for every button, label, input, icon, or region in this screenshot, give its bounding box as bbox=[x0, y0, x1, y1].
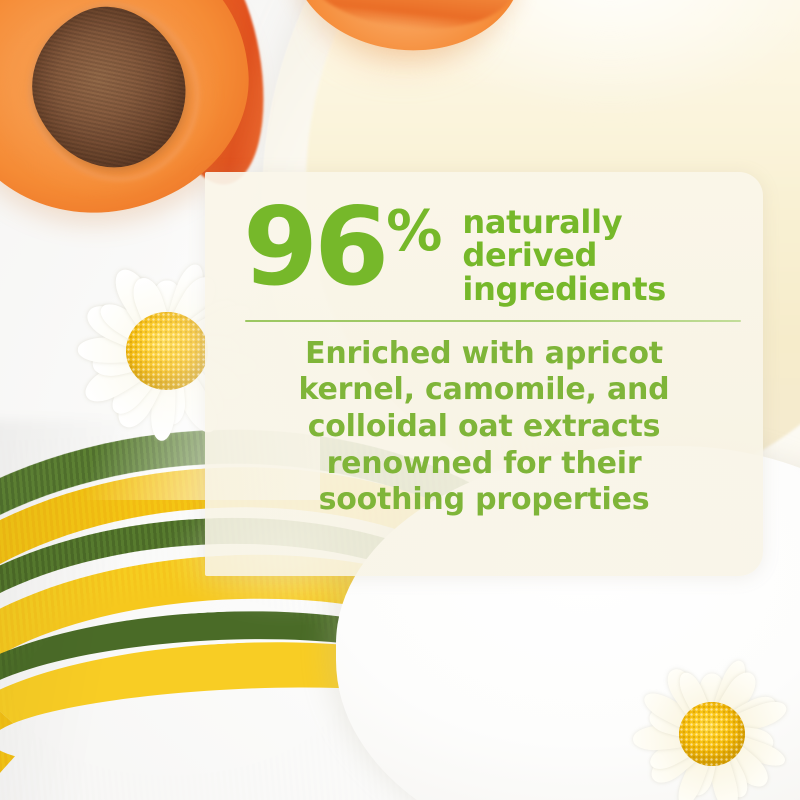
body-line-4: renowned for their bbox=[229, 446, 739, 483]
claim-line-1: naturally bbox=[462, 206, 666, 239]
chamomile-flower-bottom-right bbox=[612, 638, 800, 800]
claim-card: 96 % naturally derived ingredients Enric… bbox=[205, 172, 763, 576]
claim-line-3: ingredients bbox=[462, 273, 666, 306]
body-line-3: colloidal oat extracts bbox=[229, 409, 739, 446]
percent-sign: % bbox=[386, 204, 440, 260]
flower-core-texture bbox=[126, 312, 208, 390]
banner-canvas: 96 % naturally derived ingredients Enric… bbox=[0, 0, 800, 800]
body-line-2: kernel, camomile, and bbox=[229, 372, 739, 409]
flower-core bbox=[126, 312, 208, 390]
divider-rule bbox=[245, 320, 741, 322]
body-copy: Enriched with apricot kernel, camomile, … bbox=[205, 336, 763, 519]
claim-text: naturally derived ingredients bbox=[462, 206, 666, 306]
body-line-1: Enriched with apricot bbox=[229, 336, 739, 373]
claim-line-2: derived bbox=[462, 239, 666, 272]
percentage-number: 96 bbox=[243, 202, 385, 295]
flower-core bbox=[679, 702, 745, 766]
body-line-5: soothing properties bbox=[229, 482, 739, 519]
flower-core-texture bbox=[679, 702, 745, 766]
headline-row: 96 % naturally derived ingredients bbox=[205, 172, 763, 306]
